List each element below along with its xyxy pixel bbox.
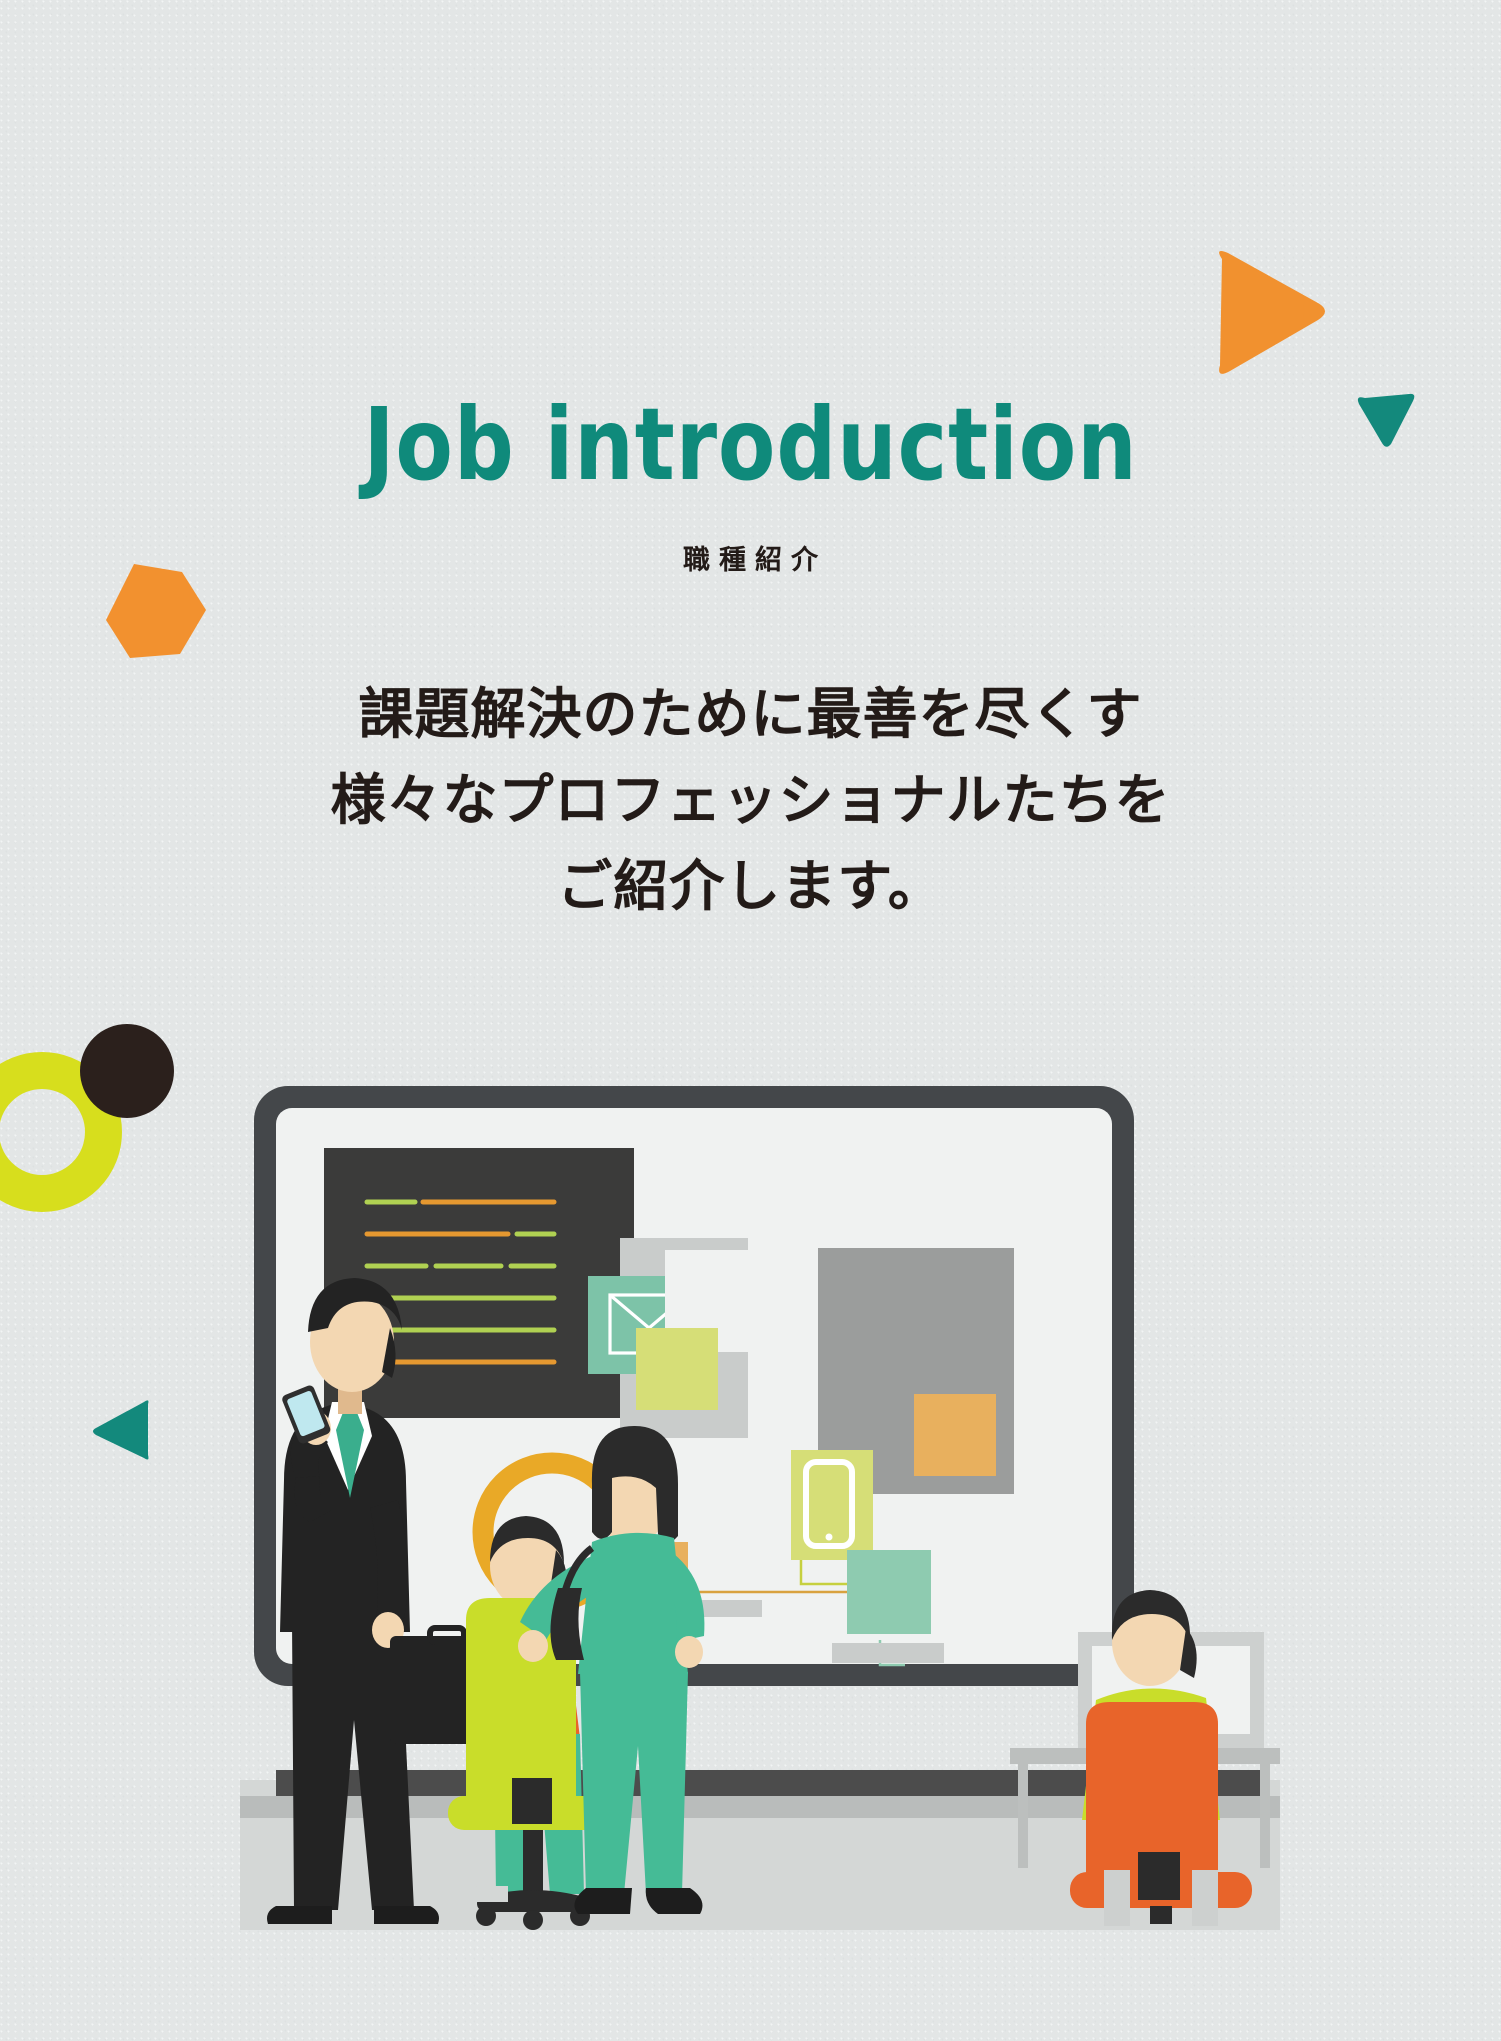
- page-subtitle: 職種紹介: [0, 538, 1501, 577]
- triangle-orange-right-icon: [1208, 245, 1328, 380]
- hexagon-orange-icon: [104, 562, 208, 662]
- page-root: Job introduction 職種紹介 課題解決のために最善を尽くす 様々な…: [0, 0, 1501, 2041]
- page-title: Job introduction: [53, 395, 1449, 495]
- lead-paragraph: 課題解決のために最善を尽くす 様々なプロフェッショナルたちを ご紹介します。: [0, 672, 1501, 929]
- circle-dark-icon: [80, 1024, 174, 1118]
- lead-line-2: 様々なプロフェッショナルたちを: [0, 758, 1501, 844]
- triangle-teal-left-icon: [90, 1398, 152, 1462]
- office-team-illustration: [240, 1080, 1280, 1930]
- lead-line-1: 課題解決のために最善を尽くす: [0, 672, 1501, 758]
- lead-line-3: ご紹介します。: [0, 844, 1501, 930]
